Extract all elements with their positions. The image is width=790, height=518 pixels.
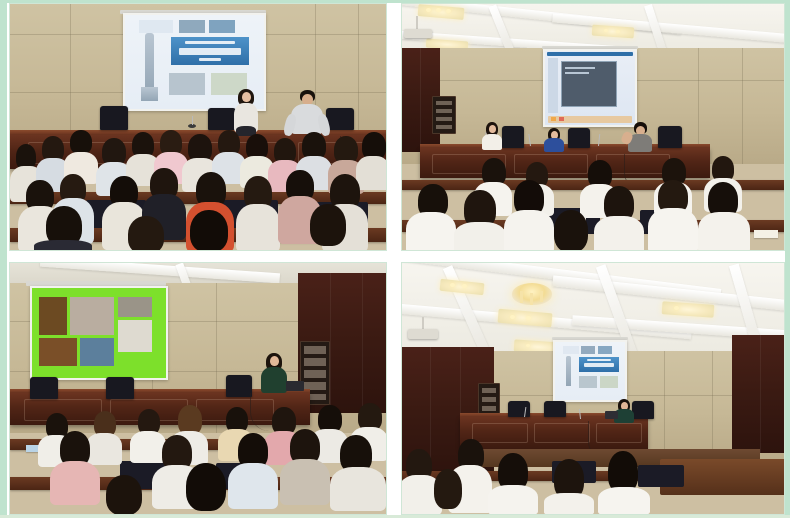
conference-hall-scene-br bbox=[402, 263, 784, 514]
chair-bl-3 bbox=[226, 375, 252, 397]
projection-screen-br bbox=[553, 340, 627, 402]
slide-desktop-window-tr bbox=[545, 51, 635, 125]
photo-panel-bottom-right[interactable] bbox=[401, 262, 785, 515]
display-board-tr bbox=[432, 96, 456, 134]
slide-recruitment-br bbox=[555, 342, 625, 400]
photo-collage bbox=[0, 0, 790, 518]
chair-tl-3 bbox=[326, 108, 354, 130]
photo-panel-top-left[interactable] bbox=[9, 3, 387, 251]
projection-screen-tr bbox=[543, 49, 637, 127]
chair-br-1 bbox=[508, 401, 530, 417]
slide-photo-collage-bl bbox=[32, 288, 166, 378]
chair-tr-1 bbox=[502, 126, 524, 148]
slide-title-band-tl bbox=[171, 37, 249, 65]
projection-screen-bl bbox=[30, 286, 168, 380]
chair-tl-2 bbox=[208, 108, 236, 130]
chair-tr-3 bbox=[658, 126, 682, 148]
chair-tl-1 bbox=[100, 106, 128, 130]
edge-tint-right bbox=[785, 0, 790, 518]
chair-bl-1 bbox=[30, 377, 58, 399]
conference-hall-scene-tl bbox=[10, 4, 386, 250]
ceiling-projector-tr bbox=[404, 29, 432, 38]
conference-hall-scene-bl bbox=[10, 263, 386, 514]
chair-bl-2 bbox=[106, 377, 134, 399]
conference-hall-scene-tr bbox=[402, 4, 784, 250]
chair-br-3 bbox=[632, 401, 654, 419]
laptop-br bbox=[605, 411, 618, 419]
chair-br-2 bbox=[544, 401, 566, 417]
ceiling-projector-br bbox=[408, 329, 438, 339]
laptop-bl bbox=[286, 381, 304, 391]
photo-panel-bottom-left[interactable] bbox=[9, 262, 387, 515]
edge-tint-left bbox=[0, 0, 7, 518]
wood-wall-br-right bbox=[732, 335, 785, 453]
chair-tr-2 bbox=[568, 128, 590, 148]
photo-panel-top-right[interactable] bbox=[401, 3, 785, 251]
